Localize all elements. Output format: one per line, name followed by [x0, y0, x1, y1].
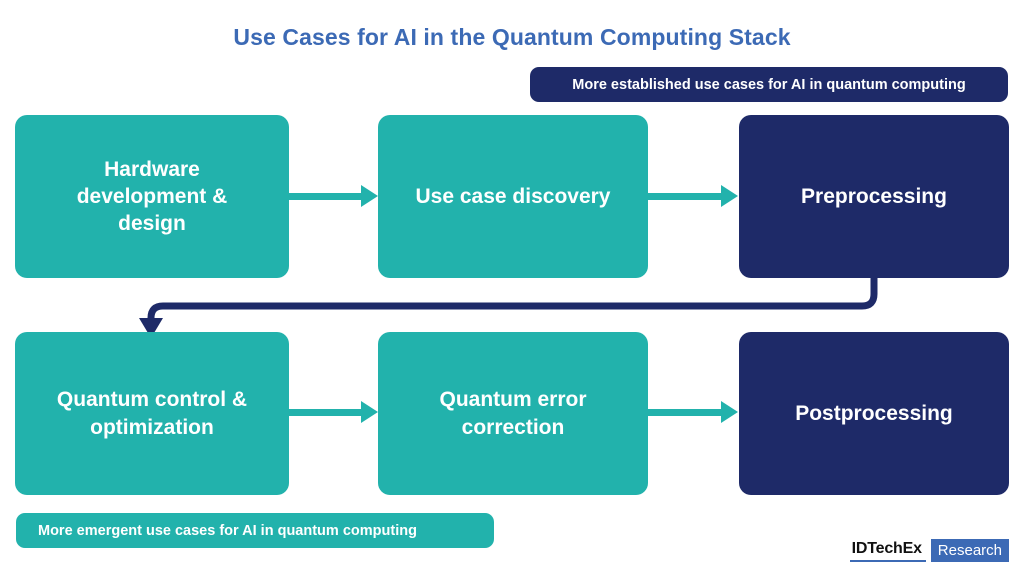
node-label: Use case discovery	[416, 183, 611, 210]
idtechex-logo: IDTechEx Research	[850, 539, 1009, 562]
banner-established-label: More established use cases for AI in qua…	[572, 77, 965, 93]
arrow-control-to-errorcorrection-shaft	[289, 409, 364, 416]
node-label: Quantum error correction	[439, 386, 586, 441]
connector-preprocessing-to-quantum-control	[130, 268, 890, 338]
arrow-usecase-to-preprocessing-shaft	[648, 193, 723, 200]
node-hardware-development-design[interactable]: Hardware development & design	[15, 115, 289, 278]
arrow-hardware-to-usecase-shaft	[289, 193, 364, 200]
arrow-hardware-to-usecase-head-icon	[361, 185, 378, 207]
node-preprocessing[interactable]: Preprocessing	[739, 115, 1009, 278]
node-quantum-control-optimization[interactable]: Quantum control & optimization	[15, 332, 289, 495]
node-postprocessing[interactable]: Postprocessing	[739, 332, 1009, 495]
arrow-errorcorrection-to-postprocessing-shaft	[648, 409, 723, 416]
banner-emergent-label: More emergent use cases for AI in quantu…	[38, 523, 417, 539]
arrow-usecase-to-preprocessing-head-icon	[721, 185, 738, 207]
arrow-errorcorrection-to-postprocessing-head-icon	[721, 401, 738, 423]
page-title: Use Cases for AI in the Quantum Computin…	[0, 24, 1024, 51]
node-label: Preprocessing	[801, 183, 947, 210]
node-label: Postprocessing	[795, 400, 953, 427]
diagram-canvas: Use Cases for AI in the Quantum Computin…	[0, 0, 1024, 576]
logo-research-tag: Research	[931, 539, 1009, 562]
arrow-control-to-errorcorrection-head-icon	[361, 401, 378, 423]
node-label: Hardware development & design	[77, 156, 228, 238]
node-use-case-discovery[interactable]: Use case discovery	[378, 115, 648, 278]
node-label: Quantum control & optimization	[57, 386, 247, 441]
logo-wordmark: IDTechEx	[850, 539, 926, 562]
node-quantum-error-correction[interactable]: Quantum error correction	[378, 332, 648, 495]
banner-more-established: More established use cases for AI in qua…	[530, 67, 1008, 102]
banner-more-emergent: More emergent use cases for AI in quantu…	[16, 513, 494, 548]
